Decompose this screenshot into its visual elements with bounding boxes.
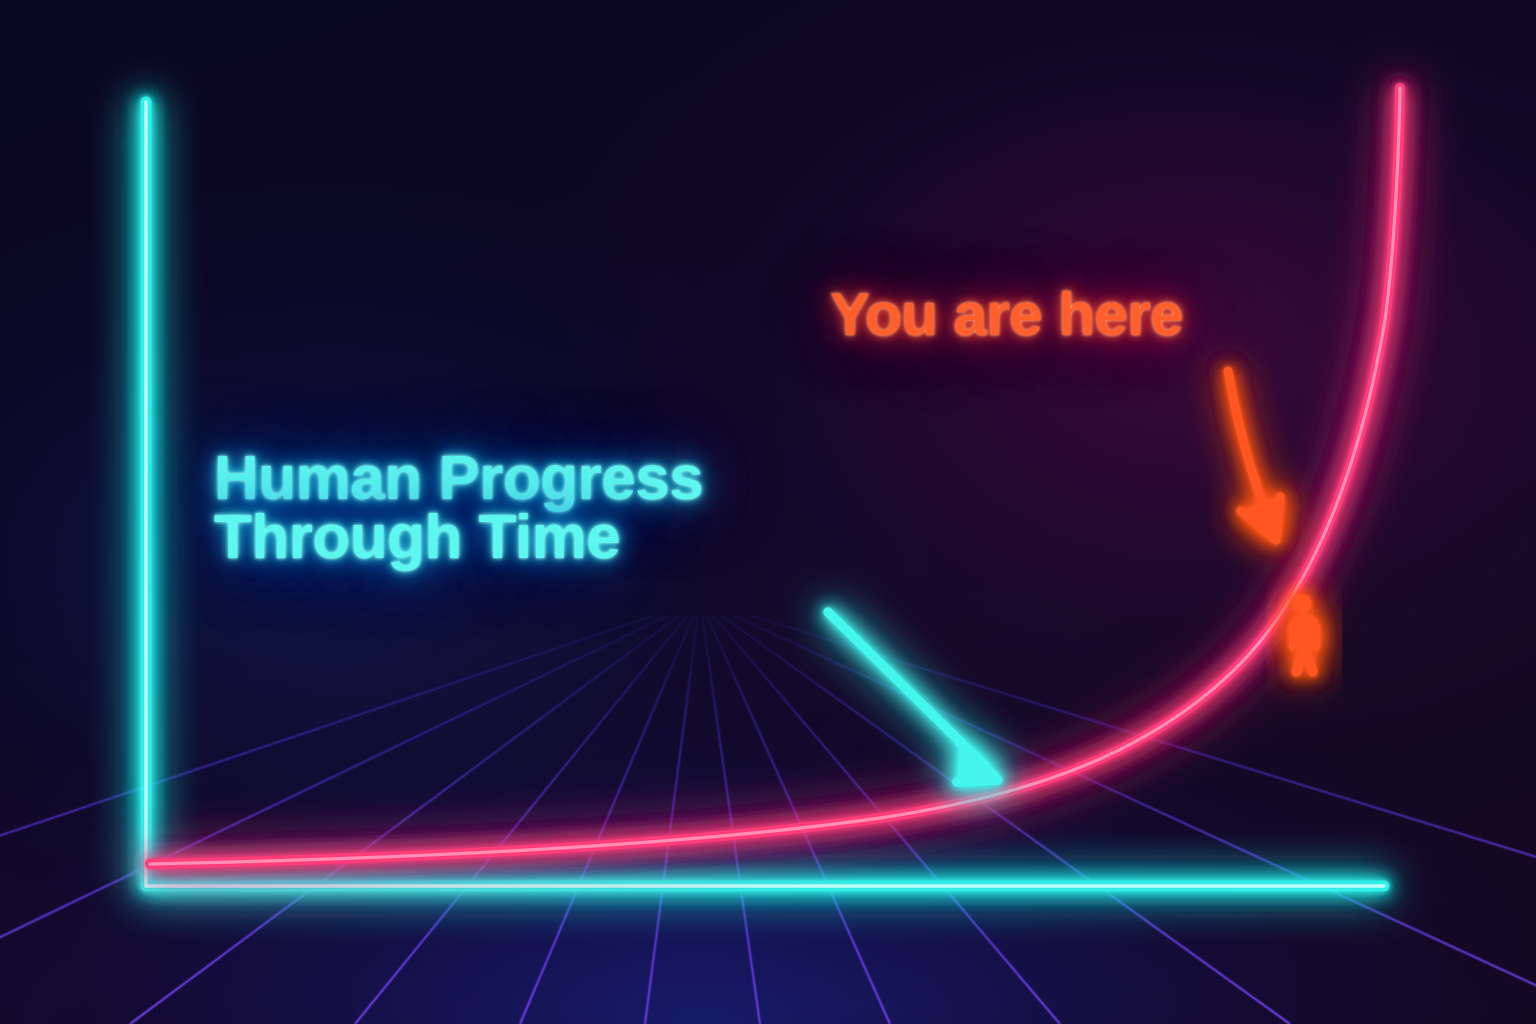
you-are-here-label: You are here — [830, 280, 1183, 349]
you-are-here-arrow — [1228, 371, 1280, 540]
chart-title: Human Progress Through Time — [214, 450, 703, 568]
neon-chart-canvas: Human Progress Through Time You are here — [0, 0, 1536, 1024]
